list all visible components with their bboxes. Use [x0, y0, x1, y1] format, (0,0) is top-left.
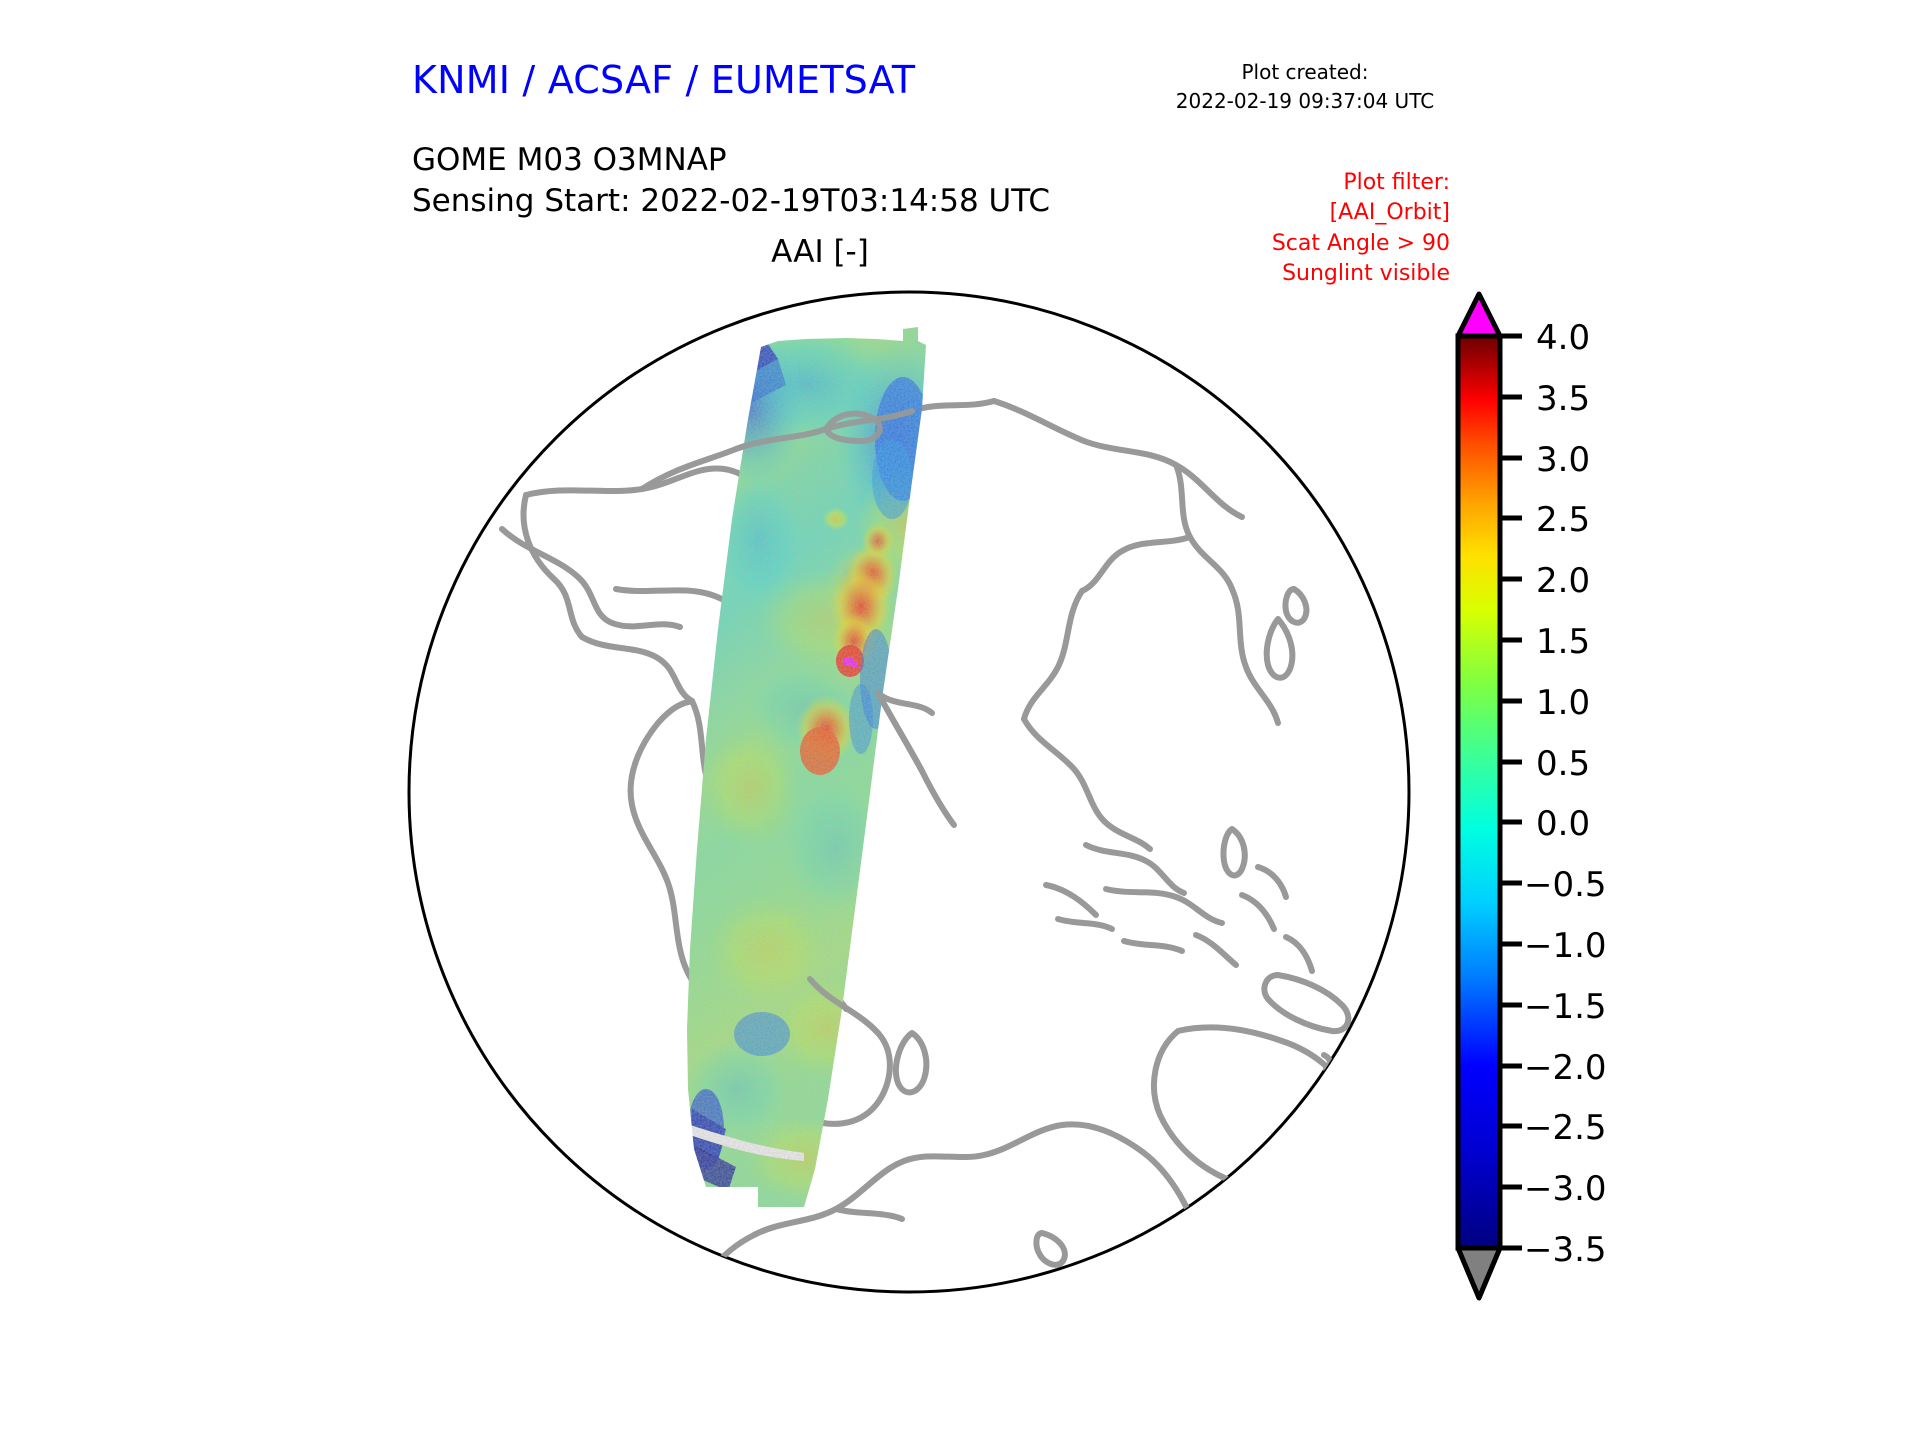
globe-map	[406, 289, 1412, 1295]
colorbar-tick-label: −3.5	[1524, 1230, 1607, 1270]
colorbar-tick-label: 0.5	[1536, 744, 1590, 784]
variable-title: AAI [-]	[400, 234, 1240, 270]
plot-created-block: Plot created: 2022-02-19 09:37:04 UTC	[1160, 58, 1450, 116]
colorbar-svg: 4.0 3.5 3.0 2.5 2.0 1.5 1.0 0.5 0.0 −0.5…	[1432, 286, 1692, 1336]
colorbar-gradient	[1458, 336, 1500, 1248]
colorbar-ticks	[1500, 336, 1522, 1248]
plot-created-value: 2022-02-19 09:37:04 UTC	[1160, 87, 1450, 116]
colorbar-tick-label: 3.0	[1536, 440, 1590, 480]
brand-title: KNMI / ACSAF / EUMETSAT	[412, 58, 915, 102]
colorbar-over-arrow	[1458, 294, 1500, 336]
colorbar: 4.0 3.5 3.0 2.5 2.0 1.5 1.0 0.5 0.0 −0.5…	[1432, 286, 1692, 1336]
colorbar-tick-label: −3.0	[1524, 1169, 1607, 1209]
colorbar-tick-label: 0.0	[1536, 804, 1590, 844]
colorbar-under-arrow	[1458, 1248, 1500, 1298]
product-name: GOME M03 O3MNAP	[412, 140, 1050, 181]
colorbar-tick-label: −2.5	[1524, 1108, 1607, 1148]
colorbar-tick-label: −1.0	[1524, 926, 1607, 966]
colorbar-tick-label: 1.0	[1536, 683, 1590, 723]
filter-line-1: [AAI_Orbit]	[1180, 198, 1450, 228]
colorbar-tick-label: 4.0	[1536, 318, 1590, 358]
colorbar-tick-labels: 4.0 3.5 3.0 2.5 2.0 1.5 1.0 0.5 0.0 −0.5…	[1524, 318, 1607, 1270]
filter-line-2: Scat Angle > 90	[1180, 229, 1450, 259]
filter-line-0: Plot filter:	[1180, 168, 1450, 198]
globe-svg	[406, 289, 1412, 1295]
sensing-start: Sensing Start: 2022-02-19T03:14:58 UTC	[412, 181, 1050, 222]
colorbar-tick-label: −2.0	[1524, 1048, 1607, 1088]
colorbar-tick-label: 1.5	[1536, 622, 1590, 662]
colorbar-tick-label: 2.5	[1536, 500, 1590, 540]
product-block: GOME M03 O3MNAP Sensing Start: 2022-02-1…	[412, 140, 1050, 222]
colorbar-tick-label: −1.5	[1524, 987, 1607, 1027]
filter-line-3: Sunglint visible	[1180, 259, 1450, 289]
plot-page: KNMI / ACSAF / EUMETSAT Plot created: 20…	[0, 0, 1920, 1440]
colorbar-tick-label: −0.5	[1524, 865, 1607, 905]
colorbar-tick-label: 2.0	[1536, 561, 1590, 601]
colorbar-tick-label: 3.5	[1536, 379, 1590, 419]
plot-created-label: Plot created:	[1160, 58, 1450, 87]
plot-filter-block: Plot filter: [AAI_Orbit] Scat Angle > 90…	[1180, 168, 1450, 289]
